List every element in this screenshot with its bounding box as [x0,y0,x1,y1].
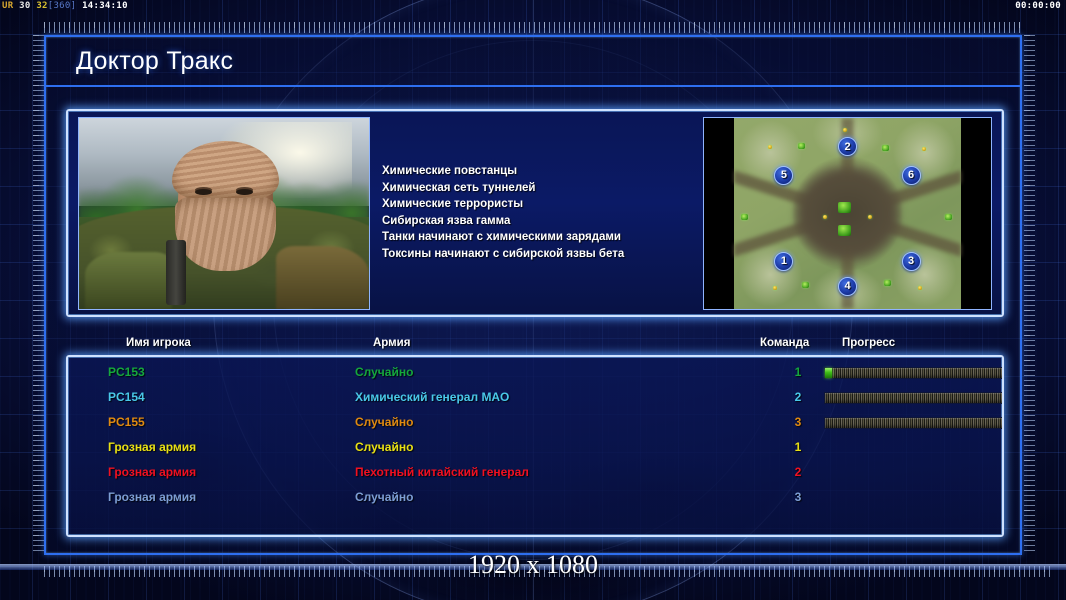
player-row[interactable]: PC154 Химический генерал МАО 2 [68,386,1002,411]
player-name: Грозная армия [108,465,196,479]
general-portrait [78,117,370,310]
ruler-right [1024,35,1035,555]
player-army[interactable]: Химический генерал МАО [355,390,509,404]
column-header-army: Армия [373,337,410,349]
player-team[interactable]: 3 [791,490,805,504]
map-preview[interactable]: 1 2 3 4 5 6 [703,117,992,310]
player-name: PC154 [108,390,145,404]
player-name: PC153 [108,365,145,379]
column-header-progress: Прогресс [842,337,895,349]
player-list-header: Имя игрока Армия Команда Прогресс [66,337,1004,357]
map-resource [882,145,889,151]
description-line: Химические террористы [382,196,702,213]
description-line: Химическая сеть туннелей [382,180,702,197]
ruler-left [33,35,44,555]
column-header-team: Команда [760,337,809,349]
map-resource [918,286,922,290]
player-progress-bar [824,367,1004,379]
map-resource [945,214,952,220]
ruler-top [44,22,1022,33]
player-row[interactable]: PC155 Случайно 3 [68,411,1002,436]
portrait-shoulder-right [276,246,369,309]
player-army[interactable]: Случайно [355,490,413,504]
map-supply-center [838,202,851,213]
player-list: PC153 Случайно 1 PC154 Химический генера… [66,355,1004,537]
map-start-position-2[interactable]: 2 [838,137,857,156]
player-row[interactable]: Грозная армия Случайно 1 [68,436,1002,461]
map-resource [884,280,891,286]
column-header-name: Имя игрока [126,337,191,349]
topbar-right-clock: 00:00:00 [1015,0,1061,13]
player-team[interactable]: 2 [791,390,805,404]
map-start-position-6[interactable]: 6 [902,166,921,185]
topbar-prefix: UR [2,1,13,11]
player-row[interactable]: Грозная армия Пехотный китайский генерал… [68,461,1002,486]
map-resource [802,282,809,288]
map-resource [843,128,847,132]
title-band: Доктор Тракс [46,37,1020,87]
main-frame: Доктор Тракс Химические повстанцы Химиче… [44,35,1022,555]
player-progress-bar [824,392,1004,404]
resolution-caption: 1920 x 1080 [0,550,1066,580]
topbar-bracket: [360] [48,1,77,11]
description-line: Танки начинают с химическими зарядами [382,229,702,246]
player-team[interactable]: 2 [791,465,805,479]
player-team[interactable]: 1 [791,440,805,454]
portrait-eye-right [236,189,253,195]
topbar-left-group: UR 30 32[360] 14:34:10 [2,0,128,13]
topbar-num2: 32 [36,1,47,11]
player-row[interactable]: Грозная армия Случайно 3 [68,486,1002,511]
map-resource [773,286,777,290]
portrait-shoulder-left [85,252,172,309]
map-start-position-4[interactable]: 4 [838,277,857,296]
map-start-position-3[interactable]: 3 [902,252,921,271]
map-center-basin [793,168,902,260]
player-army[interactable]: Случайно [355,415,413,429]
player-name: Грозная армия [108,440,196,454]
map-resource [798,143,805,149]
player-army[interactable]: Случайно [355,440,413,454]
player-army[interactable]: Пехотный китайский генерал [355,465,529,479]
general-description: Химические повстанцы Химическая сеть тун… [382,163,702,263]
player-name: Грозная армия [108,490,196,504]
info-panel: Химические повстанцы Химическая сеть тун… [66,109,1004,317]
map-supply-center [838,225,851,236]
portrait-equipment-strap [166,240,186,305]
map-resource [741,214,748,220]
description-line: Сибирская язва гамма [382,213,702,230]
top-status-bar: UR 30 32[360] 14:34:10 00:00:00 [0,0,1066,13]
description-line: Химические повстанцы [382,163,702,180]
topbar-clock: 14:34:10 [82,1,128,11]
topbar-num1: 30 [19,1,30,11]
map-resource [768,145,772,149]
player-row[interactable]: PC153 Случайно 1 [68,361,1002,386]
progress-fill [825,368,832,378]
map-terrain: 1 2 3 4 5 6 [734,118,961,309]
player-team[interactable]: 1 [791,365,805,379]
description-line: Токсины начинают с сибирской язвы бета [382,246,702,263]
page-title: Доктор Тракс [76,47,233,76]
player-progress-bar [824,417,1004,429]
player-name: PC155 [108,415,145,429]
player-team[interactable]: 3 [791,415,805,429]
player-army[interactable]: Случайно [355,365,413,379]
